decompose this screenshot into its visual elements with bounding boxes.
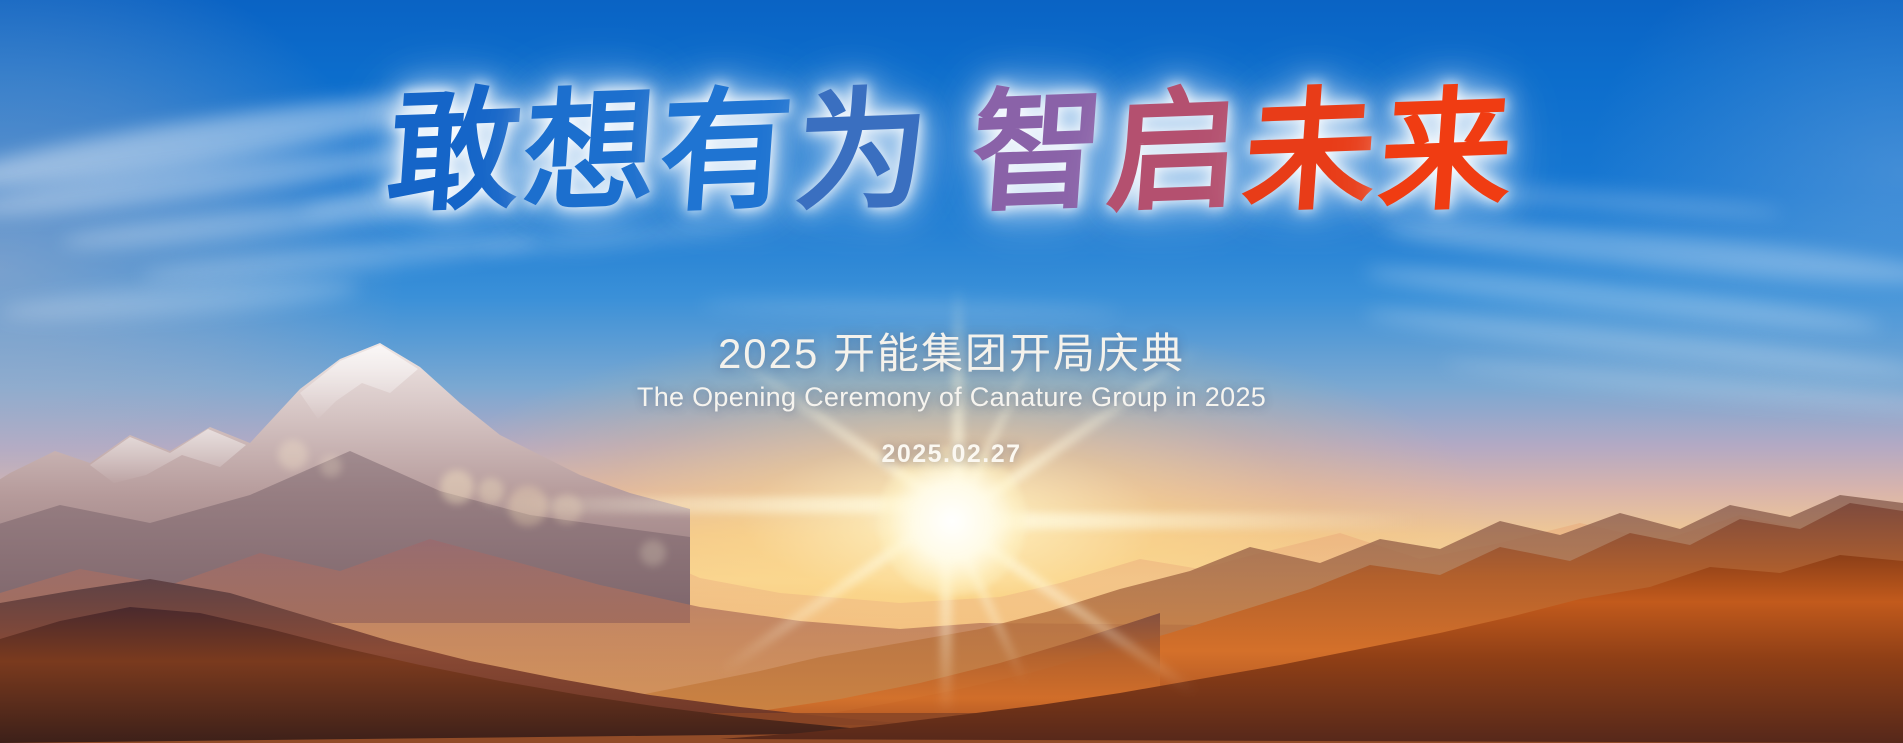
subtitle-chinese: 2025 开能集团开局庆典 xyxy=(0,320,1903,381)
subtitle-english: The Opening Ceremony of Canature Group i… xyxy=(0,382,1903,413)
event-banner: 敢想有为智启未来 2025 开能集团开局庆典 The Opening Cerem… xyxy=(0,0,1903,743)
event-date: 2025.02.27 xyxy=(0,440,1903,469)
